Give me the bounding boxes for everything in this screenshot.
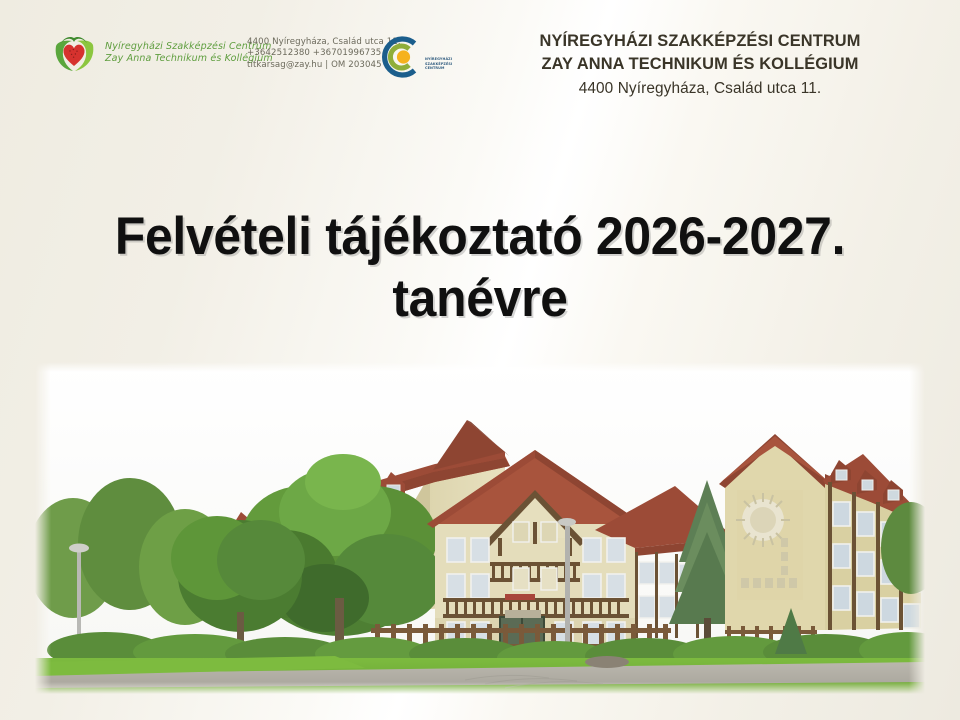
institution-logo-lockup: Nyíregyházi Szakképzési Centrum Zay Anna… bbox=[52, 33, 273, 73]
slide-title-line-1: Felvételi tájékoztató 2026-2027. bbox=[85, 206, 875, 268]
slide-title: Felvételi tájékoztató 2026-2027. tanévre bbox=[85, 206, 875, 330]
centre-logo-lockup: NYÍREGYHÁZI SZAKKÉPZÉSI CENTRUM bbox=[378, 35, 452, 79]
green-leaf-heart-logo-icon bbox=[52, 33, 96, 73]
school-building-photograph bbox=[35, 362, 925, 694]
centre-ring-logo-icon bbox=[378, 35, 422, 79]
school-header-line-2: ZAY ANNA TECHNIKUM ÉS KOLLÉGIUM bbox=[470, 53, 930, 76]
school-header-line-1: NYÍREGYHÁZI SZAKKÉPZÉSI CENTRUM bbox=[470, 30, 930, 53]
slide-header: Nyíregyházi Szakképzési Centrum Zay Anna… bbox=[0, 0, 960, 118]
school-name-header: NYÍREGYHÁZI SZAKKÉPZÉSI CENTRUM ZAY ANNA… bbox=[470, 30, 930, 101]
school-header-address: 4400 Nyíregyháza, Család utca 11. bbox=[470, 77, 930, 101]
slide-title-line-2: tanévre bbox=[85, 268, 875, 330]
school-building-illustration bbox=[35, 362, 925, 694]
presentation-slide: Nyíregyházi Szakképzési Centrum Zay Anna… bbox=[0, 0, 960, 720]
centre-caption-line-3: CENTRUM bbox=[425, 66, 452, 70]
centre-logo-caption: NYÍREGYHÁZI SZAKKÉPZÉSI CENTRUM bbox=[425, 43, 452, 70]
